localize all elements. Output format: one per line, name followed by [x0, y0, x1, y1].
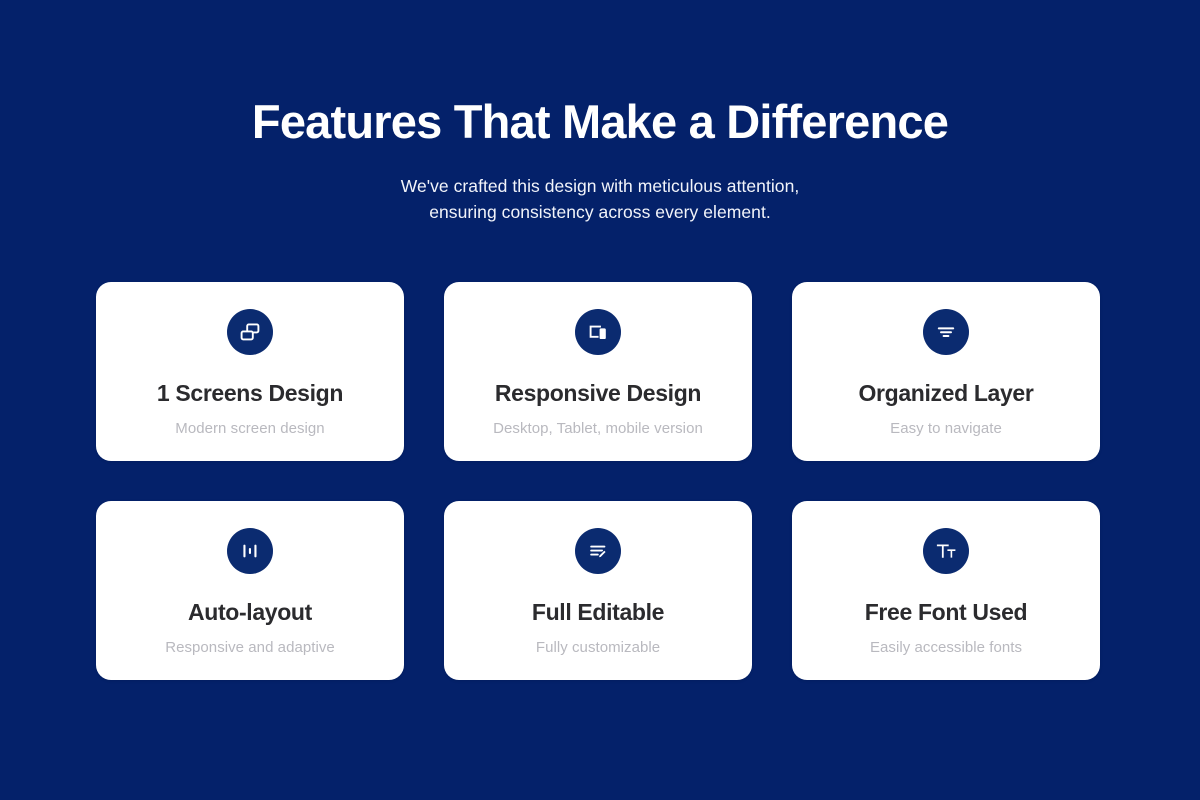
feature-card-responsive-design[interactable]: Responsive Design Desktop, Tablet, mobil… [444, 282, 752, 461]
auto-layout-distribute-icon [227, 528, 273, 574]
feature-card-free-font-used[interactable]: Free Font Used Easily accessible fonts [792, 501, 1100, 680]
feature-card-grid: 1 Screens Design Modern screen design Re… [96, 282, 1104, 680]
feature-card-title: Organized Layer [859, 381, 1034, 406]
edit-pencil-icon [575, 528, 621, 574]
section-subtitle-line-1: We've crafted this design with meticulou… [0, 173, 1200, 200]
feature-card-screens-design[interactable]: 1 Screens Design Modern screen design [96, 282, 404, 461]
section-header: Features That Make a Difference We've cr… [0, 0, 1200, 226]
feature-card-subtitle: Fully customizable [536, 639, 660, 657]
feature-card-title: Responsive Design [495, 381, 701, 406]
feature-card-organized-layer[interactable]: Organized Layer Easy to navigate [792, 282, 1100, 461]
feature-card-full-editable[interactable]: Full Editable Fully customizable [444, 501, 752, 680]
features-section: Features That Make a Difference We've cr… [0, 0, 1200, 800]
page-title: Features That Make a Difference [0, 96, 1200, 149]
screens-icon [227, 309, 273, 355]
devices-responsive-icon [575, 309, 621, 355]
feature-card-subtitle: Responsive and adaptive [165, 639, 335, 657]
feature-card-title: Free Font Used [865, 600, 1028, 625]
feature-card-subtitle: Easy to navigate [890, 420, 1002, 438]
feature-card-auto-layout[interactable]: Auto-layout Responsive and adaptive [96, 501, 404, 680]
typography-icon [923, 528, 969, 574]
feature-card-title: Full Editable [532, 600, 664, 625]
feature-card-subtitle: Easily accessible fonts [870, 639, 1022, 657]
feature-card-subtitle: Desktop, Tablet, mobile version [493, 420, 703, 438]
feature-card-title: 1 Screens Design [157, 381, 343, 406]
section-subtitle: We've crafted this design with meticulou… [0, 173, 1200, 226]
layers-align-icon [923, 309, 969, 355]
feature-card-subtitle: Modern screen design [175, 420, 324, 438]
feature-card-title: Auto-layout [188, 600, 312, 625]
section-subtitle-line-2: ensuring consistency across every elemen… [0, 199, 1200, 226]
